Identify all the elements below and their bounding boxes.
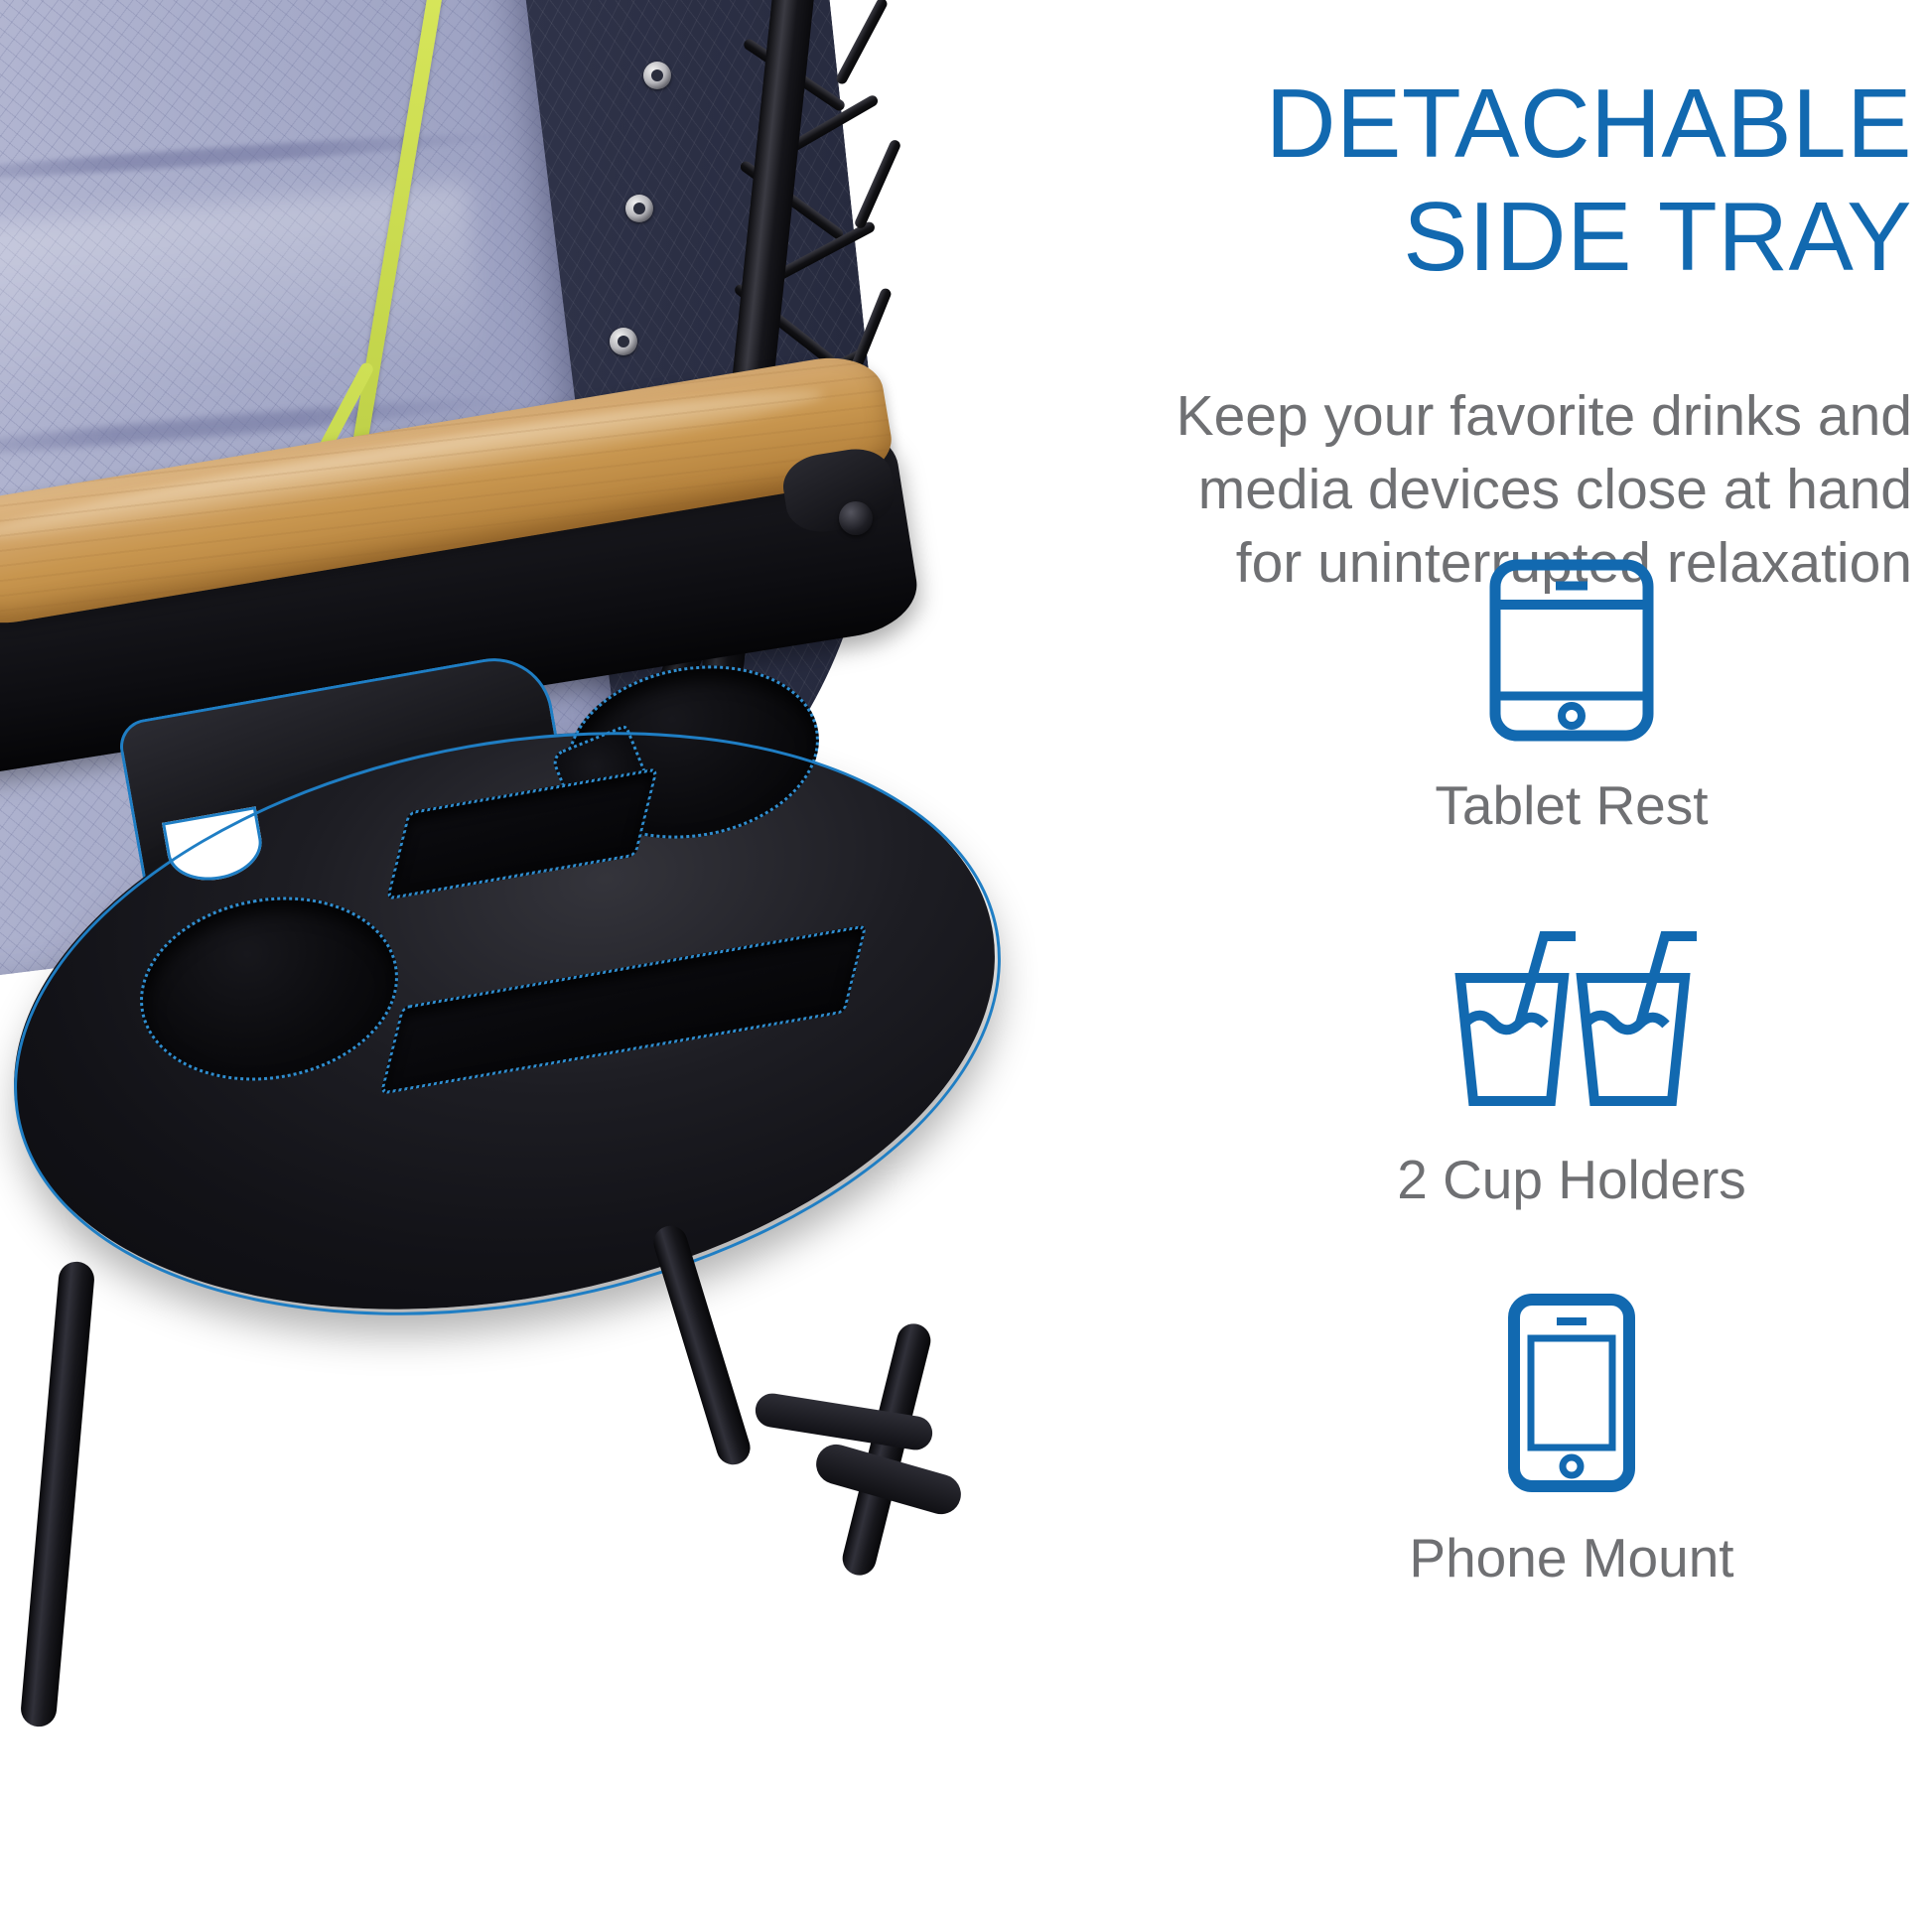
tablet-icon [1486, 556, 1657, 750]
marketing-image: DETACHABLE SIDE TRAY Keep your favorite … [0, 0, 1932, 1932]
grommet [610, 328, 637, 355]
bungee-cord [853, 138, 901, 229]
feature-label-phone-mount: Phone Mount [1409, 1526, 1733, 1589]
page-title: DETACHABLE SIDE TRAY [1052, 68, 1912, 293]
feature-label-tablet-rest: Tablet Rest [1435, 773, 1708, 837]
grommet [643, 62, 671, 89]
info-panel: DETACHABLE SIDE TRAY Keep your favorite … [1052, 0, 1932, 1932]
phone-icon [1505, 1291, 1638, 1500]
feature-phone-mount: Phone Mount [1211, 1291, 1932, 1589]
armrest-knob [839, 501, 873, 535]
product-photo [0, 0, 1067, 1747]
chair-leg [649, 1221, 755, 1468]
feature-tablet-rest: Tablet Rest [1211, 556, 1932, 837]
grommet [625, 195, 653, 222]
chair-leg [20, 1260, 96, 1727]
feature-list: Tablet Rest [1211, 556, 1932, 1589]
feature-cup-holders: 2 Cup Holders [1211, 922, 1932, 1211]
bungee-cord [835, 0, 890, 85]
two-cups-with-straws-icon [1445, 922, 1699, 1122]
feature-label-cup-holders: 2 Cup Holders [1397, 1148, 1746, 1211]
